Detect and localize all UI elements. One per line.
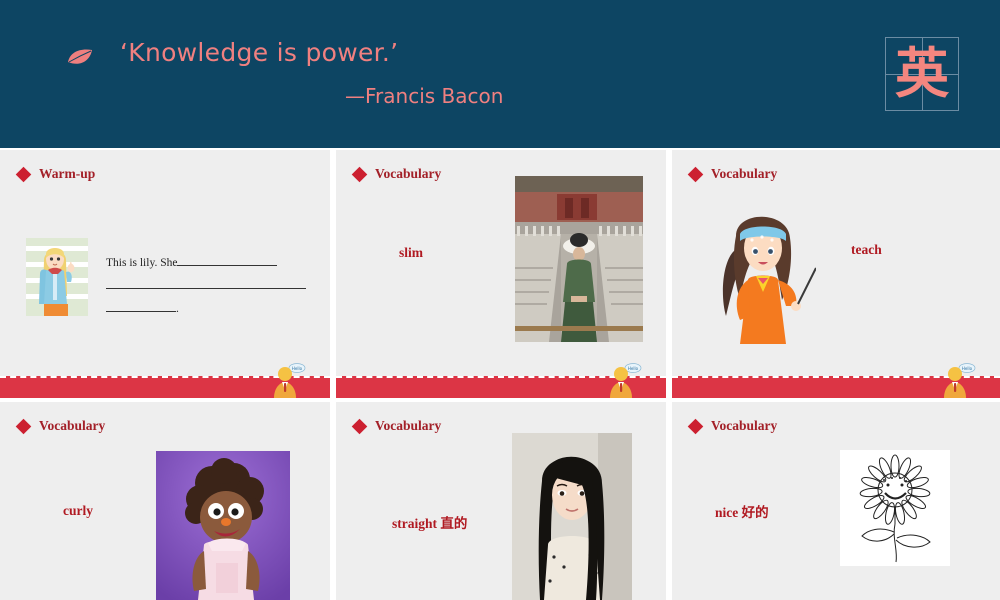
leaf-icon — [66, 48, 94, 68]
card-title: Vocabulary — [39, 418, 105, 434]
svg-text:Hello: Hello — [628, 366, 639, 371]
diamond-bullet-icon — [352, 418, 368, 434]
svg-text:Hello: Hello — [962, 366, 973, 371]
avatar-icon: Hello — [272, 362, 306, 398]
diamond-bullet-icon — [688, 418, 704, 434]
vocab-word-nice: nice 好的 — [715, 501, 769, 521]
diamond-bullet-icon — [16, 166, 32, 182]
avatar-icon: Hello — [942, 362, 976, 398]
diamond-bullet-icon — [352, 166, 368, 182]
blank-line-3[interactable] — [106, 311, 176, 312]
card-footer-band: Hello — [336, 376, 666, 398]
card-footer-band: Hello — [0, 376, 330, 398]
card-title: Warm-up — [39, 166, 95, 182]
svg-text:Hello: Hello — [292, 366, 303, 371]
vocab-word-teach: teach — [851, 242, 882, 258]
vocab-word-slim: slim — [399, 245, 423, 261]
sunflower-line-drawing — [840, 450, 950, 566]
badge-character: 英 — [886, 38, 958, 110]
card-header: Vocabulary — [18, 418, 105, 434]
quote-text: ‘Knowledge is power.’ — [120, 38, 398, 67]
card-header: Vocabulary — [354, 166, 441, 182]
card-title: Vocabulary — [375, 166, 441, 182]
teacher-illustration — [712, 196, 816, 344]
sentence-prefix: This is lily. She — [106, 257, 177, 269]
blank-line-2[interactable] — [106, 288, 306, 289]
card-title: Vocabulary — [375, 418, 441, 434]
vocab-word-curly: curly — [63, 503, 93, 519]
card-header: Vocabulary — [690, 418, 777, 434]
sentence-end: . — [176, 303, 179, 315]
vocab-word-straight: straight 直的 — [392, 512, 467, 532]
diamond-bullet-icon — [688, 166, 704, 182]
slide-header: ‘Knowledge is power.’ —Francis Bacon 英 — [0, 0, 1000, 148]
card-header: Warm-up — [18, 166, 95, 182]
quote-author: —Francis Bacon — [345, 84, 503, 108]
avatar-icon: Hello — [608, 362, 642, 398]
card-title: Vocabulary — [711, 418, 777, 434]
card-header: Vocabulary — [354, 418, 441, 434]
card-footer-band: Hello — [672, 376, 1000, 398]
card-title: Vocabulary — [711, 166, 777, 182]
palace-photo — [515, 176, 643, 342]
card-header: Vocabulary — [690, 166, 777, 182]
straight-hair-photo — [512, 433, 632, 600]
chinese-character-badge: 英 — [885, 37, 959, 111]
diamond-bullet-icon — [16, 418, 32, 434]
slide-page: ‘Knowledge is power.’ —Francis Bacon 英 W… — [0, 0, 1000, 600]
warmup-sentence: This is lily. She . — [106, 252, 316, 321]
blank-line-1[interactable] — [177, 265, 277, 266]
curly-puppet-photo — [156, 451, 290, 600]
blonde-girl-illustration — [26, 238, 88, 316]
